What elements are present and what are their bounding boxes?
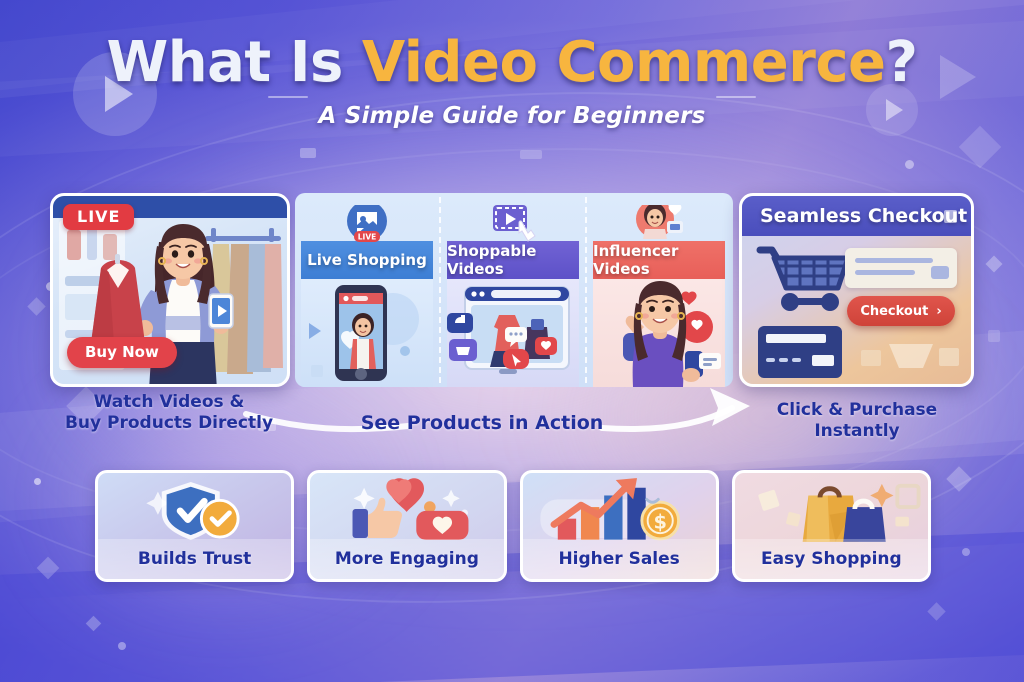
svg-text:$: $ [653, 510, 666, 533]
thumbs-up-heart-icon [310, 473, 503, 545]
benefit-label: More Engaging [310, 539, 503, 579]
benefit-easy-shopping[interactable]: Easy Shopping [732, 470, 931, 582]
shield-check-icon [98, 473, 291, 545]
benefit-label: Builds Trust [98, 539, 291, 579]
checkout-input-field[interactable] [845, 248, 957, 288]
caption-line: Click & Purchase [742, 400, 972, 421]
caption-line: Instantly [742, 421, 972, 442]
benefit-more-engaging[interactable]: More Engaging [307, 470, 506, 582]
decor-dot [905, 160, 914, 169]
svg-text:LIVE: LIVE [358, 232, 377, 241]
influencer-heart-icon [631, 205, 687, 247]
package-icons [855, 334, 965, 378]
infographic-canvas: What Is Video Commerce? A Simple Guide f… [0, 0, 1024, 682]
live-badge: LIVE [63, 204, 134, 230]
title-suffix: ? [886, 30, 918, 95]
shopping-cart-icon [756, 244, 852, 314]
video-cursor-icon [485, 205, 541, 247]
decor-dot [118, 642, 126, 650]
benefit-higher-sales[interactable]: $ Higher Sales [520, 470, 719, 582]
card-body [447, 279, 579, 387]
checkout-button-label: Checkout [860, 304, 928, 319]
caption-see-products: See Products in Action [352, 412, 612, 435]
card-live-shopping[interactable]: LIVE Live Shopping [301, 205, 433, 387]
card-body [301, 279, 433, 387]
bar-chart-up-coin-icon: $ [523, 473, 716, 545]
shopping-bags-icon [735, 473, 928, 545]
checkout-title: Seamless Checkout [742, 196, 971, 236]
title-highlight: Video Commerce [362, 30, 886, 95]
main-row: LIVE Buy Now LIVE Live Shopping [50, 193, 974, 393]
benefits-row: Builds Trust More Engaging [95, 470, 931, 582]
card-divider [439, 197, 441, 383]
credit-card-icon [756, 324, 844, 380]
card-divider [585, 197, 587, 383]
decor-dot [34, 478, 41, 485]
decor-square [944, 210, 957, 223]
seamless-checkout-card[interactable]: Seamless Checkout [739, 193, 974, 387]
title-prefix: What Is [107, 30, 362, 95]
influencer-art [593, 279, 725, 387]
decor-square [300, 148, 316, 158]
divider-left [268, 96, 308, 98]
card-influencer-videos[interactable]: Influencer Videos [593, 205, 725, 387]
checkout-button[interactable]: Checkout › [847, 296, 955, 326]
page-title: What Is Video Commerce? [0, 34, 1024, 91]
buy-now-button[interactable]: Buy Now [67, 337, 177, 368]
shoppable-browser-art [447, 279, 579, 387]
decor-square [988, 330, 1000, 342]
chevron-right-icon: › [936, 304, 941, 319]
decor-square [520, 150, 542, 159]
caption-watch-videos: Watch Videos & Buy Products Directly [44, 392, 294, 433]
decor-dot [962, 548, 970, 556]
caption-click-purchase: Click & Purchase Instantly [742, 400, 972, 441]
card-shoppable-videos[interactable]: Shoppable Videos [447, 205, 579, 387]
divider-right [716, 96, 756, 98]
caption-line: Buy Products Directly [44, 413, 294, 434]
phone-live-stream-art [301, 279, 433, 387]
video-types-group: LIVE Live Shopping [295, 193, 733, 387]
caption-line: Watch Videos & [44, 392, 294, 413]
benefit-builds-trust[interactable]: Builds Trust [95, 470, 294, 582]
live-video-tag-icon: LIVE [339, 205, 395, 247]
live-shopping-hero-card[interactable]: LIVE Buy Now [50, 193, 290, 387]
benefit-label: Easy Shopping [735, 539, 928, 579]
header: What Is Video Commerce? A Simple Guide f… [0, 34, 1024, 129]
benefit-label: Higher Sales [523, 539, 716, 579]
page-subtitle: A Simple Guide for Beginners [0, 103, 1024, 129]
card-body [593, 279, 725, 387]
